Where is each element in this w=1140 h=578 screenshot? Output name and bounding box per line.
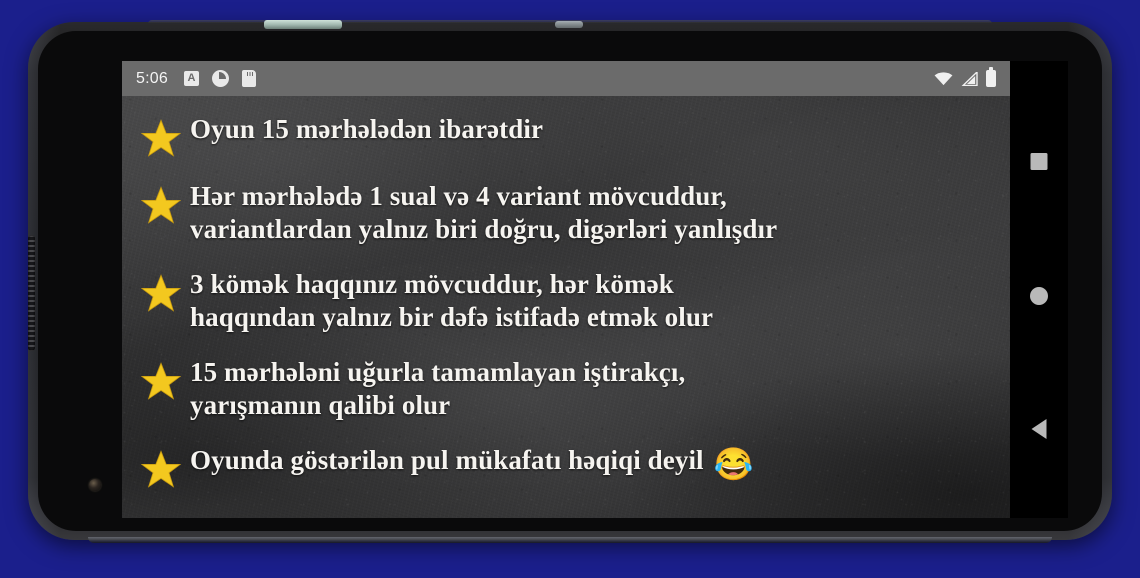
list-item-text: Hər mərhələdə 1 sual və 4 variant mövcud…: [190, 179, 777, 246]
list-item: Oyunda göstərilən pul mükafatı həqiqi de…: [132, 443, 1000, 489]
back-button[interactable]: [1032, 419, 1047, 439]
sd-card-icon: [242, 70, 256, 87]
list-item-line: 15 mərhələni uğurla tamamlayan iştirakçı…: [190, 356, 685, 389]
list-item-text: 3 kömək haqqınız mövcuddur, hər kömək ha…: [190, 267, 713, 334]
android-navigation-bar: [1010, 61, 1068, 518]
speaker-grille: [28, 235, 35, 351]
rules-list: Oyun 15 mərhələdən ibarətdir Hər mərhələ…: [122, 96, 1010, 518]
phone-bottom-rim: [88, 537, 1052, 543]
list-item-text: Oyunda göstərilən pul mükafatı həqiqi de…: [190, 443, 754, 484]
star-icon: [141, 118, 181, 158]
status-left-icons: A: [184, 70, 256, 87]
wifi-icon: [934, 72, 953, 86]
recents-button[interactable]: [1031, 153, 1048, 170]
status-clock: 5:06: [136, 70, 168, 88]
list-item: Oyun 15 mərhələdən ibarətdir: [132, 112, 1000, 158]
list-item-line: Oyun 15 mərhələdən ibarətdir: [190, 113, 543, 146]
list-item-text: Oyun 15 mərhələdən ibarətdir: [190, 112, 543, 146]
list-item: Hər mərhələdə 1 sual və 4 variant mövcud…: [132, 179, 1000, 246]
keyboard-language-icon: A: [184, 71, 199, 86]
star-icon: [141, 273, 181, 313]
list-item-line: variantlardan yalnız biri doğru, digərlə…: [190, 213, 777, 246]
status-bar: 5:06 A: [122, 61, 1010, 96]
list-item-line: yarışmanın qalibi olur: [190, 389, 685, 422]
star-icon: [141, 361, 181, 401]
list-item-line: Hər mərhələdə 1 sual və 4 variant mövcud…: [190, 180, 777, 213]
list-item-line: 3 kömək haqqınız mövcuddur, hər kömək: [190, 268, 713, 301]
laughing-emoji-icon: 😂: [714, 446, 754, 482]
star-icon: [141, 449, 181, 489]
list-item-text: 15 mərhələni uğurla tamamlayan iştirakçı…: [190, 355, 685, 422]
screenshot-root: 5:06 A: [0, 0, 1140, 578]
phone-screen: 5:06 A: [122, 61, 1010, 518]
list-item: 3 kömək haqqınız mövcuddur, hər kömək ha…: [132, 267, 1000, 334]
list-item-line: Oyunda göstərilən pul mükafatı həqiqi de…: [190, 445, 704, 475]
volume-rocker-button[interactable]: [264, 20, 342, 29]
list-item: 15 mərhələni uğurla tamamlayan iştirakçı…: [132, 355, 1000, 422]
cellular-signal-icon: [961, 72, 978, 86]
power-button[interactable]: [555, 21, 583, 28]
list-item-line: haqqından yalnız bir dəfə istifadə etmək…: [190, 301, 713, 334]
home-button[interactable]: [1030, 287, 1048, 305]
list-item-line-wrap: Oyunda göstərilən pul mükafatı həqiqi de…: [190, 444, 754, 484]
battery-icon: [986, 70, 996, 87]
front-camera-icon: [89, 479, 101, 491]
dnd-circle-icon: [212, 70, 229, 87]
status-right-icons: [934, 70, 996, 87]
star-icon: [141, 185, 181, 225]
